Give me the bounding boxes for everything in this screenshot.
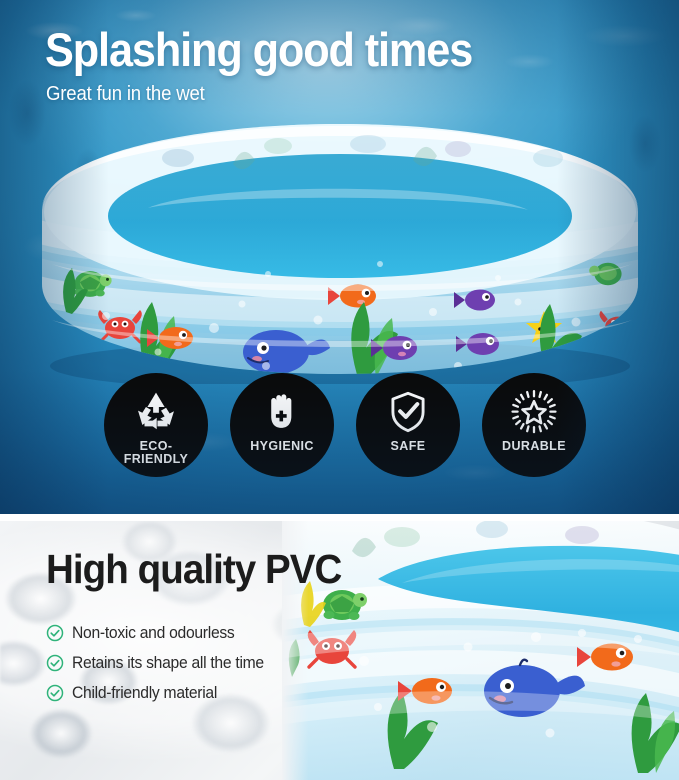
panel-divider — [0, 514, 679, 521]
top-panel: ECO- FRIENDLY HYGIENIC SAFE — [0, 0, 679, 514]
feature-item: Child-friendly material — [46, 678, 274, 708]
feature-item: Non-toxic and odourless — [46, 618, 274, 648]
top-subheadline: Great fun in the wet — [46, 83, 205, 106]
check-circle-icon — [46, 654, 64, 672]
top-headline: Splashing good times — [45, 26, 472, 74]
feature-text: Non-toxic and odourless — [72, 624, 234, 643]
feature-text: Retains its shape all the time — [72, 654, 264, 673]
top-panel-vignette — [0, 0, 679, 514]
feature-text: Child-friendly material — [72, 684, 217, 703]
pool-illustration-bottom — [282, 521, 679, 780]
feature-item: Retains its shape all the time — [46, 648, 274, 678]
check-circle-icon — [46, 624, 64, 642]
product-marketing-image: ECO- FRIENDLY HYGIENIC SAFE — [0, 0, 679, 780]
feature-list: Non-toxic and odourless Retains its shap… — [46, 618, 274, 708]
bottom-heading: High quality PVC — [46, 546, 341, 593]
check-circle-icon — [46, 684, 64, 702]
